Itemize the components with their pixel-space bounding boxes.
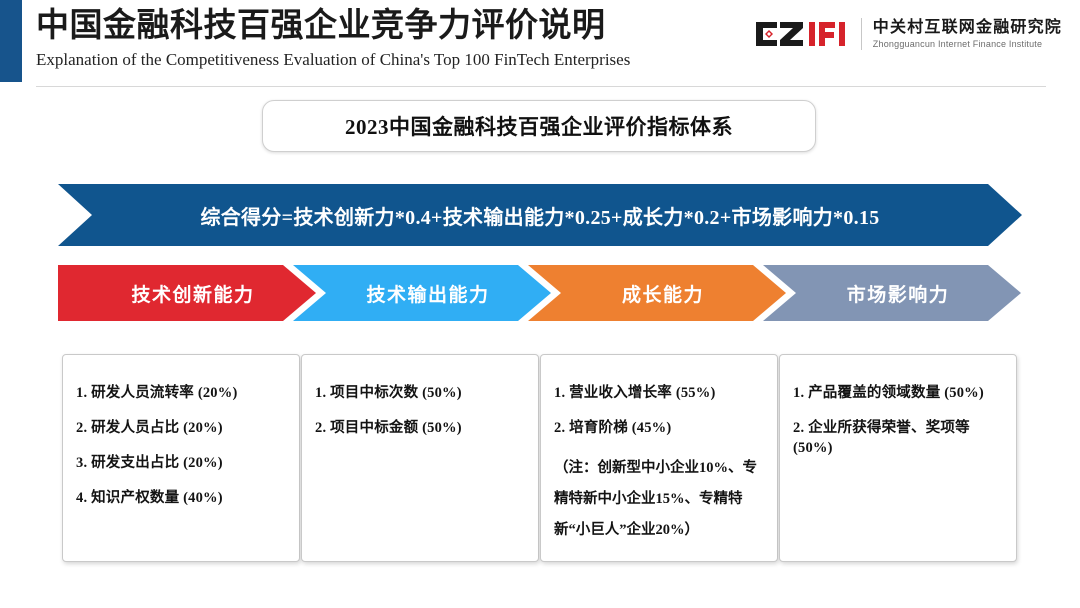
czifi-logo-icon [755, 19, 851, 49]
score-formula-banner: 综合得分=技术创新力*0.4+技术输出能力*0.25+成长力*0.2+市场影响力… [58, 184, 1022, 246]
capability-chevron-label: 技术创新能力 [131, 280, 254, 307]
indicator-item: 2. 企业所获得荣誉、奖项等 (50%) [793, 418, 1003, 458]
indicator-item: 2. 培育阶梯 (45%) [554, 418, 764, 438]
capability-chevron-label: 技术输出能力 [366, 280, 489, 307]
capability-chevron-label: 成长能力 [622, 280, 704, 307]
indicator-item: 1. 研发人员流转率 (20%) [76, 383, 286, 403]
capability-chevron-label: 市场影响力 [847, 280, 950, 307]
capability-chevron-2: 技术输出能力 [293, 265, 551, 321]
logo-name-en: Zhongguancun Internet Finance Institute [873, 40, 1062, 49]
capability-chevron-3: 成长能力 [528, 265, 786, 321]
logo-text-block: 中关村互联网金融研究院 Zhongguancun Internet Financ… [873, 20, 1062, 49]
indicator-item: 4. 知识产权数量 (40%) [76, 488, 286, 508]
indicator-item: 1. 营业收入增长率 (55%) [554, 383, 764, 403]
indicator-card-4: 1. 产品覆盖的领域数量 (50%)2. 企业所获得荣誉、奖项等 (50%) [779, 354, 1017, 562]
organization-logo: 中关村互联网金融研究院 Zhongguancun Internet Financ… [755, 12, 1062, 56]
indicator-item: 2. 项目中标金额 (50%) [315, 418, 525, 438]
header-text-block: 中国金融科技百强企业竞争力评价说明 Explanation of the Com… [36, 6, 630, 71]
indicator-cards-row: 1. 研发人员流转率 (20%)2. 研发人员占比 (20%)3. 研发支出占比… [62, 354, 1018, 564]
page-title: 中国金融科技百强企业竞争力评价说明 [36, 6, 630, 46]
header-accent-bar [0, 0, 22, 82]
indicator-system-title-box: 2023中国金融科技百强企业评价指标体系 [262, 100, 816, 152]
indicator-item: 3. 研发支出占比 (20%) [76, 453, 286, 473]
indicator-item: 2. 研发人员占比 (20%) [76, 418, 286, 438]
capability-chevron-1: 技术创新能力 [58, 265, 316, 321]
logo-name-cn: 中关村互联网金融研究院 [873, 20, 1062, 36]
header-divider [36, 86, 1046, 87]
indicator-card-3: 1. 营业收入增长率 (55%)2. 培育阶梯 (45%)（注：创新型中小企业1… [540, 354, 778, 562]
page-subtitle: Explanation of the Competitiveness Evalu… [36, 49, 630, 71]
capability-chevron-4: 市场影响力 [763, 265, 1021, 321]
capability-chevron-row: 技术创新能力技术输出能力成长能力市场影响力 [58, 265, 1022, 321]
indicator-item: 1. 产品覆盖的领域数量 (50%) [793, 383, 1003, 403]
indicator-note: （注：创新型中小企业10%、专精特新中小企业15%、专精特新“小巨人”企业20%… [554, 453, 764, 546]
score-formula-text: 综合得分=技术创新力*0.4+技术输出能力*0.25+成长力*0.2+市场影响力… [200, 201, 879, 230]
indicator-system-title-text: 2023中国金融科技百强企业评价指标体系 [345, 111, 733, 141]
indicator-item: 1. 项目中标次数 (50%) [315, 383, 525, 403]
indicator-card-1: 1. 研发人员流转率 (20%)2. 研发人员占比 (20%)3. 研发支出占比… [62, 354, 300, 562]
logo-divider [861, 18, 862, 50]
indicator-card-2: 1. 项目中标次数 (50%)2. 项目中标金额 (50%) [301, 354, 539, 562]
page-header: 中国金融科技百强企业竞争力评价说明 Explanation of the Com… [0, 0, 1080, 88]
